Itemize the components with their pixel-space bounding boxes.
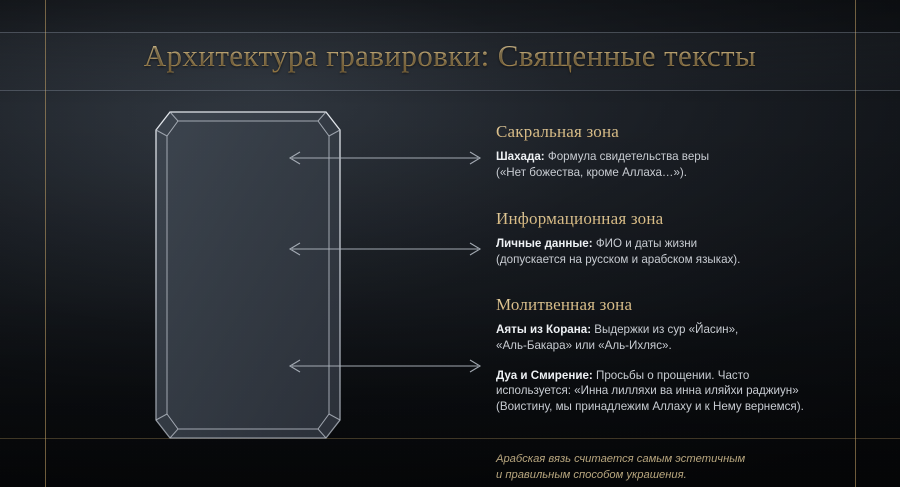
zone-info-body: Личные данные: ФИО и даты жизни (допуска… <box>496 236 848 267</box>
zone-dua-text3: (Воистину, мы принадлежим Аллаху и к Нем… <box>496 400 804 413</box>
zone-dua-term: Дуа и Смирение: <box>496 369 593 382</box>
grid-line-horizontal-top <box>0 32 900 33</box>
zone-dua-body: Дуа и Смирение: Просьбы о прощении. Част… <box>496 368 848 415</box>
zone-sacred-term: Шахада: <box>496 150 545 163</box>
zone-prayer: Молитвенная зона Аяты из Корана: Выдержк… <box>496 295 848 414</box>
grid-line-horizontal-bottom <box>0 438 900 439</box>
zone-sacred-heading: Сакральная зона <box>496 122 848 142</box>
zone-sacred-body: Шахада: Формула свидетельства веры («Нет… <box>496 149 848 180</box>
zone-info-text2: (допускается на русском и арабском языка… <box>496 253 740 266</box>
zone-list: Сакральная зона Шахада: Формула свидетел… <box>496 122 848 414</box>
zone-prayer-body: Аяты из Корана: Выдержки из сур «Йасин»,… <box>496 322 848 353</box>
zone-prayer-term: Аяты из Корана: <box>496 323 591 336</box>
slide-canvas: Архитектура гравировки: Священные тексты <box>0 0 900 487</box>
zone-info: Информационная зона Личные данные: ФИО и… <box>496 209 848 267</box>
page-title: Архитектура гравировки: Священные тексты <box>0 38 900 74</box>
zone-dua-text: Просьбы о прощении. Часто <box>593 369 750 382</box>
footnote-line-1: Арабская вязь считается самым эстетичным <box>496 453 745 465</box>
zone-dua-text2: используется: «Инна лилляхи ва инна иляй… <box>496 384 799 397</box>
zone-prayer-text2: «Аль-Бакара» или «Аль-Ихляс». <box>496 339 672 352</box>
spacer-2 <box>496 267 848 295</box>
footnote-line-2: и правильным способом украшения. <box>496 469 687 481</box>
zone-sacred-text: Формула свидетельства веры <box>545 150 709 163</box>
zone-sacred-text2: («Нет божества, кроме Аллаха…»). <box>496 166 687 179</box>
monument-outer-outline <box>156 112 340 438</box>
zone-prayer-text: Выдержки из сур «Йасин», <box>591 323 738 336</box>
zone-info-term: Личные данные: <box>496 237 593 250</box>
zone-info-text: ФИО и даты жизни <box>593 237 698 250</box>
zone-info-heading: Информационная зона <box>496 209 848 229</box>
spacer-1 <box>496 180 848 209</box>
zone-prayer-heading: Молитвенная зона <box>496 295 848 315</box>
spacer-3 <box>496 354 848 368</box>
zone-sacred: Сакральная зона Шахада: Формула свидетел… <box>496 122 848 180</box>
footnote: Арабская вязь считается самым эстетичным… <box>496 452 856 483</box>
grid-line-horizontal-title <box>0 90 900 91</box>
monument-diagram <box>140 100 355 448</box>
